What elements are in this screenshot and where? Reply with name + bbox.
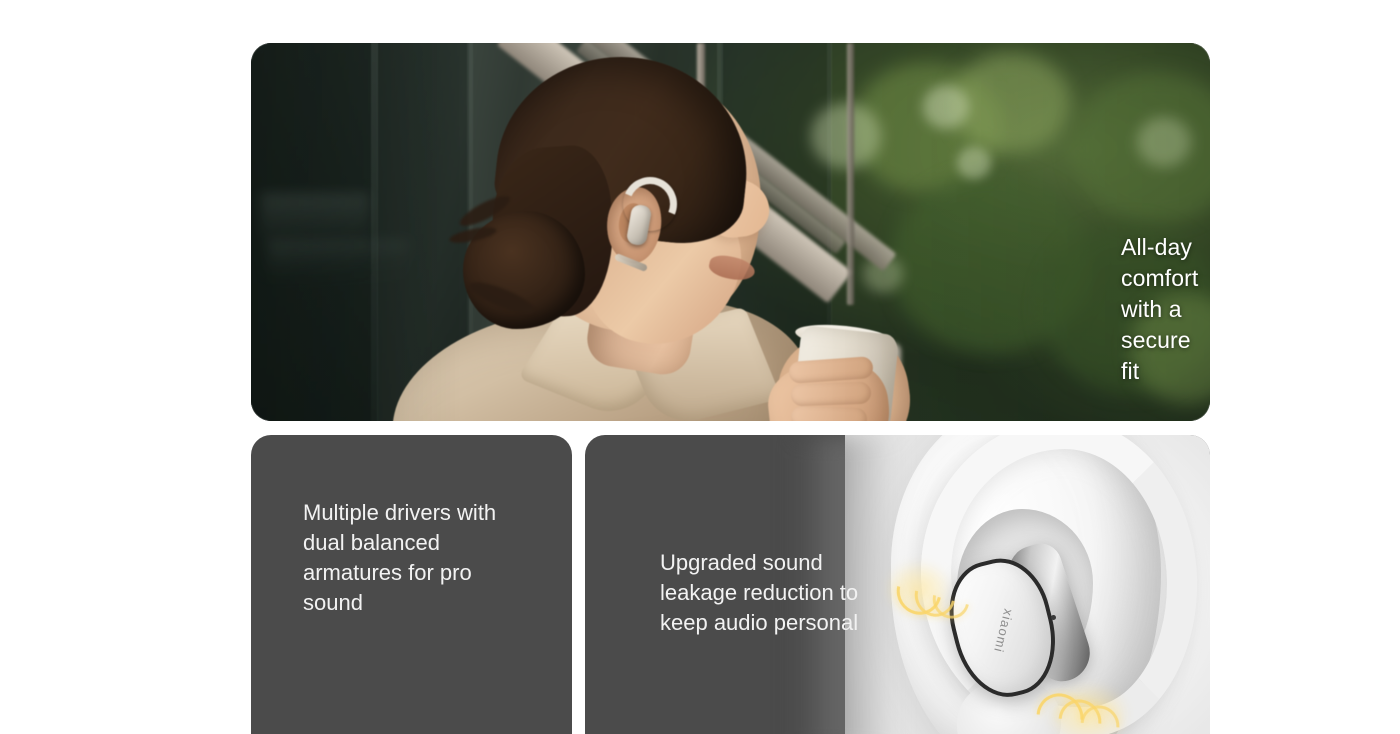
feature-card-text: Multiple drivers with dual balanced arma… <box>303 498 518 618</box>
xiaomi-logo: xiaomi <box>991 607 1016 654</box>
photo-depth-wash <box>251 43 1210 421</box>
page-root: All-day comfort with a secure fit Multip… <box>0 0 1400 734</box>
hero-card[interactable]: All-day comfort with a secure fit <box>251 43 1210 421</box>
feature-card-multiple-drivers[interactable]: Multiple drivers with dual balanced arma… <box>251 435 572 734</box>
feature-card-text: Upgraded sound leakage reduction to keep… <box>660 548 890 638</box>
hero-caption: All-day comfort with a secure fit <box>1121 232 1210 387</box>
ear-product-render: xiaomi <box>845 435 1210 734</box>
feature-card-sound-leakage[interactable]: Upgraded sound leakage reduction to keep… <box>585 435 1210 734</box>
earbud-mic-icon <box>1051 615 1056 620</box>
